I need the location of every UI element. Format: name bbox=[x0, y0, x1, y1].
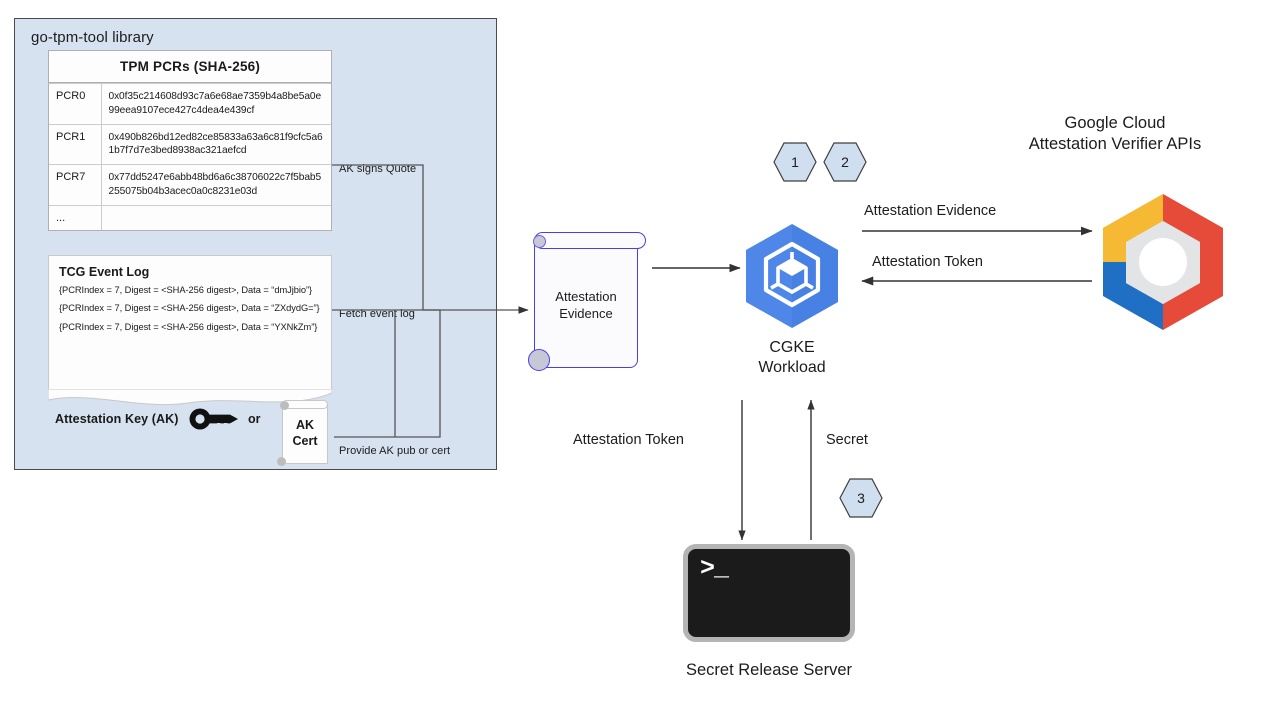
event-log-entry: {PCRIndex = 7, Digest = <SHA-256 digest>… bbox=[59, 321, 321, 333]
flow-label-secret: Secret bbox=[826, 432, 868, 448]
flow-label-attestation-evidence: Attestation Evidence bbox=[864, 203, 996, 219]
cgke-caption-line-1: CGKE bbox=[712, 338, 872, 358]
attestation-evidence-document: Attestation Evidence bbox=[528, 230, 652, 372]
verifier-title-line-2: Attestation Verifier APIs bbox=[975, 134, 1255, 155]
tpm-pcr-table: TPM PCRs (SHA-256) PCR0 0x0f35c214608d93… bbox=[48, 50, 332, 231]
ak-cert-text: AK Cert bbox=[282, 404, 328, 464]
library-title: go-tpm-tool library bbox=[31, 29, 154, 46]
terminal-prompt: >_ bbox=[700, 556, 728, 581]
pcr-rows: PCR0 0x0f35c214608d93c7a6e68ae7359b4a8be… bbox=[49, 83, 331, 230]
step-number: 1 bbox=[772, 141, 818, 183]
cgke-caption-line-2: Workload bbox=[712, 358, 872, 378]
evidence-label-line-1: Attestation bbox=[555, 289, 616, 306]
connector-label-fetch-event-log: Fetch event log bbox=[339, 308, 415, 320]
table-row: PCR7 0x77dd5247e6abb48bd6a6c38706022c7f5… bbox=[49, 165, 331, 206]
pcr-table-header: TPM PCRs (SHA-256) bbox=[49, 51, 331, 83]
verifier-title: Google Cloud Attestation Verifier APIs bbox=[975, 113, 1255, 156]
table-row: PCR1 0x490b826bd12ed82ce85833a63a6c81f9c… bbox=[49, 124, 331, 165]
event-log-title: TCG Event Log bbox=[59, 265, 321, 279]
terminal-icon: >_ bbox=[683, 544, 855, 642]
pcr-value: 0x0f35c214608d93c7a6e68ae7359b4a8be5a0e9… bbox=[101, 84, 331, 125]
attestation-key-label: Attestation Key (AK) bbox=[55, 412, 179, 426]
secret-release-server-caption: Secret Release Server bbox=[609, 661, 929, 680]
flow-label-attestation-token-to-server: Attestation Token bbox=[573, 432, 684, 448]
step-marker-2: 2 bbox=[822, 141, 868, 183]
pcr-value bbox=[101, 205, 331, 230]
ak-cert-line-1: AK bbox=[296, 418, 314, 434]
event-log-entry: {PCRIndex = 7, Digest = <SHA-256 digest>… bbox=[59, 284, 321, 296]
key-icon bbox=[189, 408, 241, 435]
connector-label-provide-ak: Provide AK pub or cert bbox=[339, 445, 450, 457]
evidence-label: Attestation Evidence bbox=[534, 244, 638, 368]
step-marker-3: 3 bbox=[838, 477, 884, 519]
pcr-name: PCR1 bbox=[49, 124, 101, 165]
table-row: ... bbox=[49, 205, 331, 230]
evidence-label-line-2: Evidence bbox=[555, 306, 616, 323]
cgke-workload-caption: CGKE Workload bbox=[712, 338, 872, 379]
ak-cert-document: AK Cert bbox=[276, 398, 328, 468]
table-row: PCR0 0x0f35c214608d93c7a6e68ae7359b4a8be… bbox=[49, 84, 331, 125]
cgke-workload-node bbox=[742, 222, 842, 330]
step-number: 2 bbox=[822, 141, 868, 183]
verifier-title-line-1: Google Cloud bbox=[975, 113, 1255, 134]
pcr-value: 0x77dd5247e6abb48bd6a6c38706022c7f5bab52… bbox=[101, 165, 331, 206]
gke-hexagon-icon bbox=[742, 222, 842, 330]
step-number: 3 bbox=[838, 477, 884, 519]
flow-label-attestation-token: Attestation Token bbox=[872, 254, 983, 270]
pcr-name: PCR0 bbox=[49, 84, 101, 125]
pcr-name: ... bbox=[49, 205, 101, 230]
connector-label-ak-signs-quote: AK signs Quote bbox=[339, 163, 416, 175]
tcg-event-log-card: TCG Event Log {PCRIndex = 7, Digest = <S… bbox=[48, 255, 332, 390]
google-cloud-platform-logo bbox=[1093, 188, 1233, 336]
pcr-value: 0x490b826bd12ed82ce85833a63a6c81f9cfc5a6… bbox=[101, 124, 331, 165]
diagram-canvas: go-tpm-tool library TPM PCRs (SHA-256) P… bbox=[0, 0, 1262, 703]
pcr-name: PCR7 bbox=[49, 165, 101, 206]
or-separator: or bbox=[248, 412, 261, 426]
ak-cert-line-2: Cert bbox=[292, 434, 317, 450]
event-log-entry: {PCRIndex = 7, Digest = <SHA-256 digest>… bbox=[59, 302, 321, 314]
step-marker-1: 1 bbox=[772, 141, 818, 183]
